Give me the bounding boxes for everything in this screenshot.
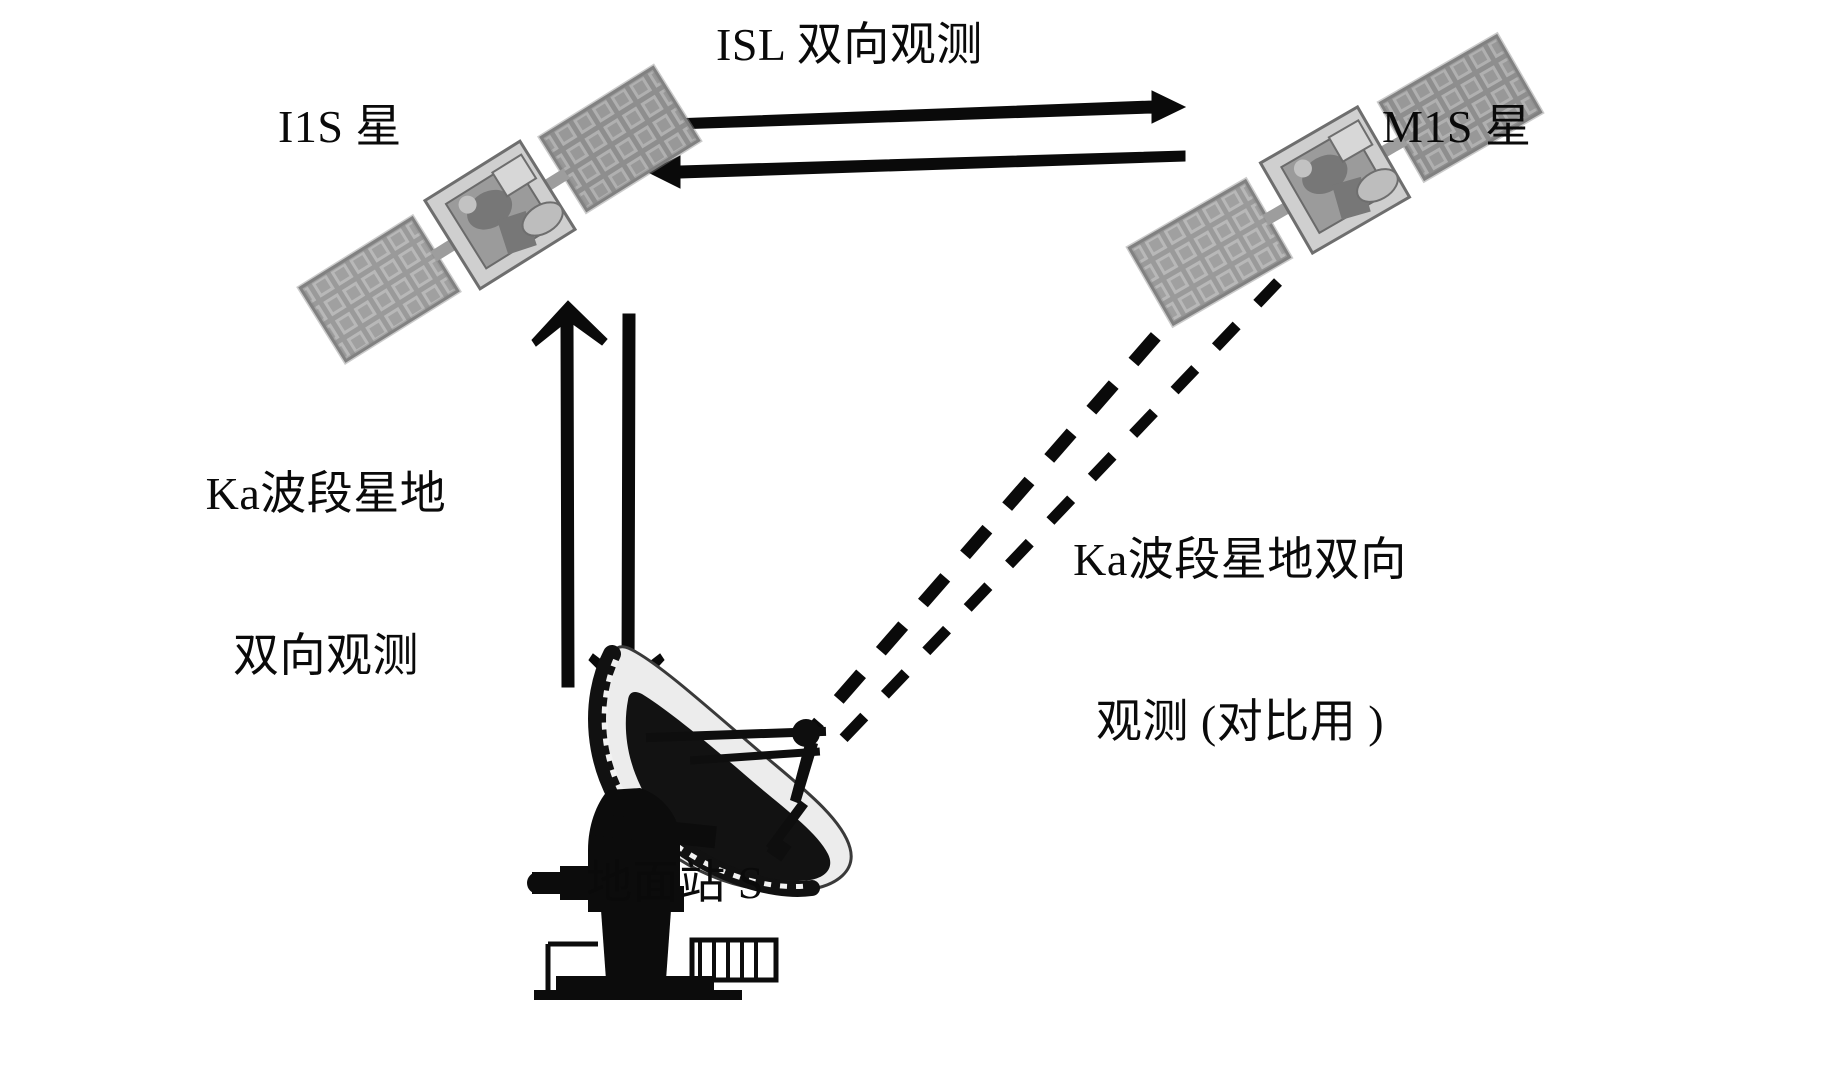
satellite-right-label: M1S 星 [1382, 100, 1531, 154]
diagram-canvas: ISL 双向观测 I1S 星 M1S 星 Ka波段星地 双向观测 Ka波段星地双… [0, 0, 1843, 1087]
isl-link-arrows [646, 91, 1185, 188]
ka-left-link-arrows [532, 301, 664, 699]
ka-left-arrow-up [532, 301, 607, 687]
satellite-left-label: I1S 星 [278, 100, 402, 154]
isl-arrow-forward [646, 91, 1185, 130]
isl-link-label: ISL 双向观测 [716, 18, 983, 72]
satellite-right-icon [1125, 29, 1544, 331]
ka-left-link-label-line2: 双向观测 [176, 629, 476, 683]
isl-arrow-backward [648, 151, 1185, 188]
ground-station-icon [527, 647, 851, 1000]
ka-left-link-label: Ka波段星地 双向观测 [176, 358, 476, 792]
ka-right-link-label-line2: 观测 (对比用 ) [1060, 695, 1420, 749]
satellite-left-solar-panel-b [541, 67, 699, 210]
ka-right-link-label-line1: Ka波段星地双向 [1060, 533, 1420, 587]
ka-left-arrow-down [589, 314, 664, 699]
ka-left-link-label-line1: Ka波段星地 [176, 467, 476, 521]
ka-right-link-label: Ka波段星地双向 观测 (对比用 ) [1060, 424, 1420, 858]
satellite-left-solar-panel-a [300, 218, 458, 361]
ground-station-label: 地面站 S [525, 856, 825, 910]
